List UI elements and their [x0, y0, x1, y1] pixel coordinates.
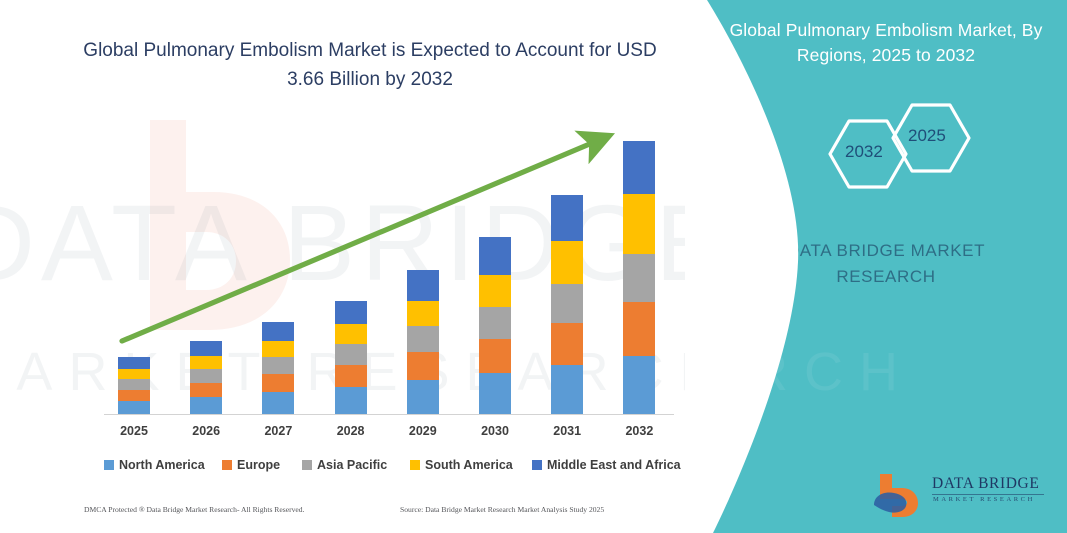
bar-segment: [190, 397, 222, 414]
bar-segment: [335, 324, 367, 344]
x-axis-label-2025: 2025: [104, 424, 164, 438]
legend-label: South America: [425, 458, 513, 472]
bar-segment: [623, 194, 655, 254]
legend-swatch-icon: [104, 460, 114, 470]
x-axis-label-2030: 2030: [465, 424, 525, 438]
bar-segment: [190, 356, 222, 369]
legend-swatch-icon: [410, 460, 420, 470]
bar-segment: [551, 365, 583, 414]
panel-curve-divider: [685, 0, 815, 533]
bar-segment: [335, 365, 367, 387]
x-axis-line: [104, 414, 674, 415]
bar-segment: [190, 341, 222, 356]
company-logo: DATA BRIDGE MARKET RESEARCH: [872, 472, 1047, 520]
bar-segment: [551, 195, 583, 241]
bar-segment: [407, 326, 439, 352]
hexagon-2032-label: 2032: [845, 142, 883, 162]
legend-label: Asia Pacific: [317, 458, 387, 472]
hexagon-2025-label: 2025: [908, 126, 946, 146]
legend-item-north-america[interactable]: North America: [104, 458, 205, 472]
bar-2030: [479, 237, 511, 414]
bar-segment: [623, 254, 655, 302]
bar-segment: [118, 390, 150, 401]
bar-segment: [407, 352, 439, 380]
bar-segment: [479, 237, 511, 275]
bar-segment: [262, 374, 294, 392]
bar-segment: [262, 357, 294, 374]
x-axis-labels: 20252026202720282029203020312032: [0, 424, 700, 444]
bar-2027: [262, 322, 294, 414]
bar-segment: [623, 302, 655, 356]
legend-item-asia-pacific[interactable]: Asia Pacific: [302, 458, 387, 472]
copyright-text: DMCA Protected ® Data Bridge Market Rese…: [84, 505, 304, 514]
bar-segment: [118, 379, 150, 390]
footer: DMCA Protected ® Data Bridge Market Rese…: [0, 505, 700, 525]
bar-segment: [335, 387, 367, 414]
legend-swatch-icon: [532, 460, 542, 470]
chart-legend: North AmericaEuropeAsia PacificSouth Ame…: [0, 458, 700, 480]
x-axis-label-2031: 2031: [537, 424, 597, 438]
bar-2031: [551, 195, 583, 414]
bar-2026: [190, 341, 222, 414]
bar-segment: [623, 141, 655, 194]
bar-2032: [623, 141, 655, 414]
bar-2029: [407, 270, 439, 414]
bar-segment: [335, 301, 367, 324]
infographic-canvas: DATA BRIDGE MARKET RESEARCH Global Pulmo…: [0, 0, 1067, 533]
logo-wordmark: DATA BRIDGE: [932, 475, 1039, 493]
bar-segment: [190, 383, 222, 397]
bar-segment: [407, 380, 439, 414]
bar-segment: [407, 301, 439, 326]
bridge-b-icon: [872, 472, 928, 518]
bar-segment: [479, 307, 511, 339]
x-axis-label-2027: 2027: [248, 424, 308, 438]
bar-segment: [551, 323, 583, 365]
bar-segment: [335, 344, 367, 365]
bar-segment: [623, 356, 655, 414]
bar-segment: [118, 357, 150, 369]
bar-segment: [190, 369, 222, 383]
stacked-bar-chart: 20252026202720282029203020312032: [0, 0, 700, 440]
legend-swatch-icon: [302, 460, 312, 470]
hexagon-group: 2032 2025: [820, 98, 1010, 210]
legend-label: Europe: [237, 458, 280, 472]
bar-segment: [118, 401, 150, 414]
x-axis-label-2032: 2032: [609, 424, 669, 438]
legend-item-south-america[interactable]: South America: [410, 458, 513, 472]
legend-item-europe[interactable]: Europe: [222, 458, 280, 472]
bar-segment: [262, 392, 294, 414]
bar-2025: [118, 357, 150, 414]
legend-label: Middle East and Africa: [547, 458, 681, 472]
x-axis-label-2029: 2029: [393, 424, 453, 438]
x-axis-label-2026: 2026: [176, 424, 236, 438]
bar-segment: [479, 275, 511, 307]
bar-2028: [335, 301, 367, 414]
x-axis-label-2028: 2028: [321, 424, 381, 438]
logo-divider: [932, 494, 1044, 495]
legend-label: North America: [119, 458, 205, 472]
bar-segment: [479, 339, 511, 373]
legend-swatch-icon: [222, 460, 232, 470]
bar-segment: [118, 369, 150, 379]
logo-tagline: MARKET RESEARCH: [933, 496, 1035, 503]
source-text: Source: Data Bridge Market Research Mark…: [400, 505, 604, 514]
bar-segment: [262, 322, 294, 341]
bar-segment: [262, 341, 294, 357]
bar-segment: [551, 241, 583, 284]
bar-segment: [551, 284, 583, 323]
bar-segment: [407, 270, 439, 301]
bar-segment: [479, 373, 511, 414]
legend-item-middle-east-and-africa[interactable]: Middle East and Africa: [532, 458, 681, 472]
